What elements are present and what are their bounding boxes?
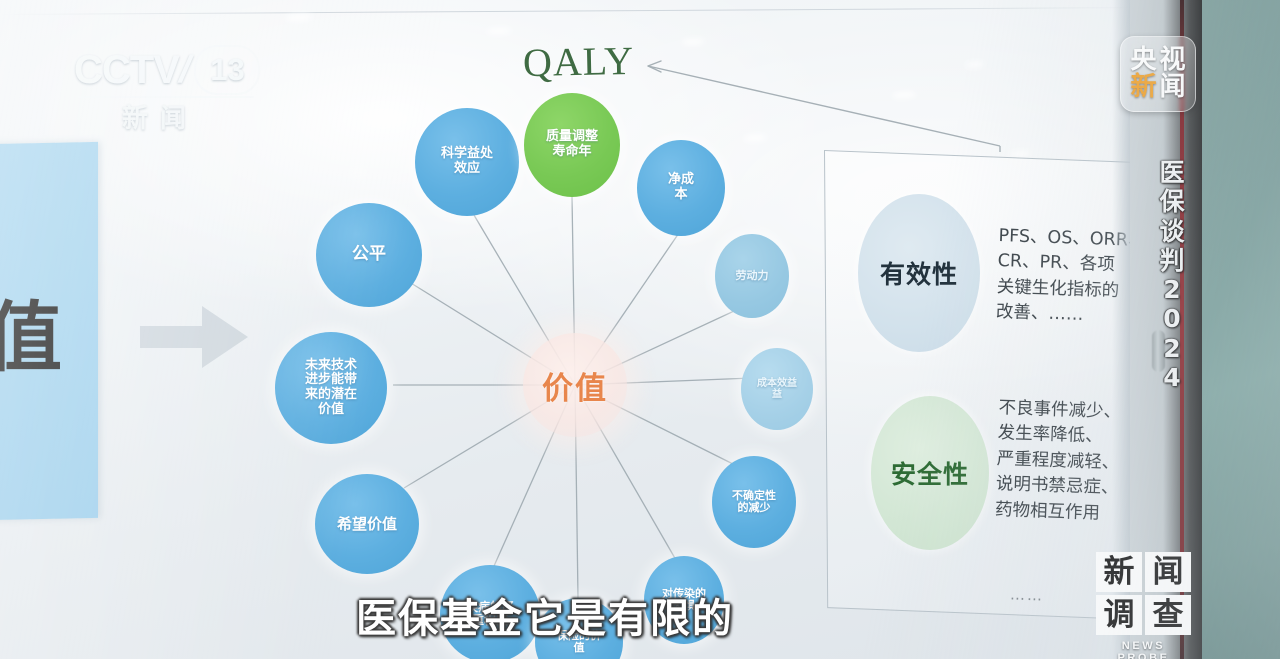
cctv-news-badge: 央 视 新 闻: [1120, 36, 1196, 112]
program-logo-row-2: 调 查: [1096, 595, 1196, 635]
bubble-uncertainty-reduction[interactable]: 不确定性 的减少: [712, 456, 796, 548]
program-logo-char-cha: 查: [1145, 595, 1191, 635]
program-logo-row-1: 新 闻: [1096, 552, 1196, 592]
bubble-hope-value[interactable]: 希望价值: [315, 474, 419, 574]
program-logo-char-diao: 调: [1096, 595, 1142, 635]
program-logo-char-wen: 闻: [1145, 552, 1191, 592]
badge-char-wen: 闻: [1160, 74, 1186, 101]
left-panel-character: 值: [0, 300, 58, 376]
video-frame: 值 QALY 价值 科学益处 效应: [0, 0, 1280, 659]
effectiveness-node[interactable]: 有效性: [858, 194, 980, 352]
vtitle-char: 判: [1152, 246, 1192, 275]
program-logo-english: NEWS PROBE: [1096, 640, 1191, 659]
vtitle-char: 2: [1152, 334, 1192, 363]
safety-node[interactable]: 安全性: [871, 396, 989, 550]
badge-char-xin: 新: [1130, 74, 1156, 101]
subtitle-text: 医保基金它是有限的: [0, 586, 1090, 644]
bubble-qaly[interactable]: 质量调整 寿命年: [524, 93, 620, 197]
bubble-fairness[interactable]: 公平: [316, 203, 422, 307]
cctv-underline: [78, 96, 254, 98]
right-arrow-icon: [140, 300, 250, 374]
cctv-logo-row: CCTV / 13: [74, 44, 264, 96]
door-handle-reflection: [1203, 336, 1214, 372]
cctv-channel-number: 13: [194, 45, 260, 95]
badge-char-shi: 视: [1160, 47, 1186, 74]
vtitle-char: 医: [1152, 158, 1192, 187]
qaly-title: QALY: [523, 37, 635, 86]
vtitle-char: 2: [1152, 275, 1192, 304]
diagram-center-node: 价值: [523, 333, 627, 437]
vtitle-char: 0: [1152, 304, 1192, 333]
bubble-science-benefit[interactable]: 科学益处 效应: [415, 108, 519, 216]
cctv-channel-sub: 新闻: [74, 98, 246, 135]
badge-row-top: 央 视: [1130, 47, 1185, 74]
program-logo: 新 闻 调 查 NEWS PROBE: [1096, 552, 1196, 652]
vtitle-char: 谈: [1152, 217, 1192, 246]
vertical-program-title: 医 保 谈 判 2 0 2 4: [1152, 158, 1192, 392]
vtitle-char: 4: [1152, 363, 1192, 392]
bubble-future-tech-value[interactable]: 未来技术 进步能带 来的潜在 价值: [275, 332, 387, 444]
cctv-channel-watermark: CCTV / 13 新闻: [74, 44, 264, 136]
vtitle-char: 保: [1152, 187, 1192, 216]
door-glass-panel: [1202, 0, 1280, 659]
program-logo-char-xin: 新: [1096, 552, 1142, 592]
bubble-net-cost[interactable]: 净成 本: [637, 140, 725, 236]
bubble-cost-effectiveness[interactable]: 成本效益 益: [741, 348, 813, 430]
bubble-labor-force[interactable]: 劳动力: [715, 234, 789, 318]
badge-char-yang: 央: [1130, 47, 1156, 74]
center-label: 价值: [542, 363, 608, 408]
cctv-wordmark: CCTV: [74, 48, 179, 93]
badge-row-bottom: 新 闻: [1130, 74, 1185, 101]
